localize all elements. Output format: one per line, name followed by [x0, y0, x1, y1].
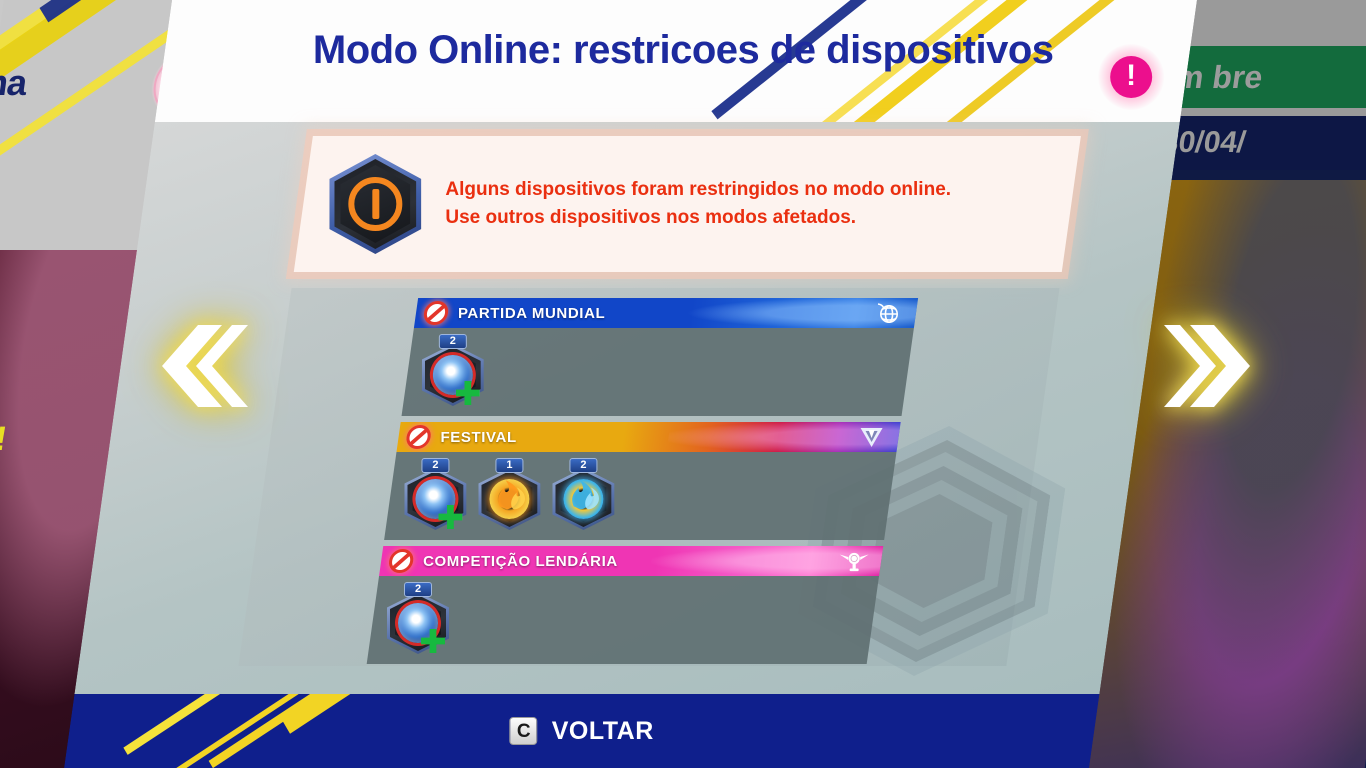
- device-count-badge: 2: [421, 458, 449, 473]
- device-hexagon-frame: [478, 468, 540, 530]
- mode-name: FESTIVAL: [441, 429, 517, 446]
- dialog-title-bar: Modo Online: restricoes de dispositivos …: [155, 0, 1197, 122]
- mode-name: COMPETIÇÃO LENDÁRIA: [423, 553, 618, 570]
- joycon-device-icon[interactable]: 2: [404, 460, 466, 530]
- dialog-footer: C VOLTAR: [64, 694, 1099, 768]
- device-hexagon-frame: [404, 468, 466, 530]
- pro-controller-orange-icon[interactable]: 1: [478, 460, 540, 530]
- mode-name: PARTIDA MUNDIAL: [458, 305, 605, 322]
- mode-header[interactable]: COMPETIÇÃO LENDÁRIA: [379, 546, 883, 576]
- mode-block: PARTIDA MUNDIAL2: [402, 298, 919, 416]
- device-count-badge: 1: [495, 458, 523, 473]
- warning-hexagon-icon: [329, 154, 421, 254]
- globe-icon: [872, 300, 906, 326]
- mode-header[interactable]: FESTIVAL: [396, 422, 900, 452]
- joycon-device-icon[interactable]: 2: [387, 584, 449, 654]
- restricted-device-list: 2: [402, 328, 914, 416]
- notice-box: Alguns dispositivos foram restringidos n…: [294, 136, 1081, 272]
- restricted-device-list: 2: [367, 576, 879, 664]
- device-count-badge: 2: [439, 334, 467, 349]
- restricted-device-list: 212: [384, 452, 896, 540]
- previous-arrow-button[interactable]: [150, 318, 250, 414]
- page-title: Modo Online: restricoes de dispositivos: [313, 28, 1073, 73]
- background-left-label: ma: [0, 62, 29, 104]
- background-left-label-2: 0O!: [0, 420, 8, 459]
- device-artwork: [489, 479, 529, 519]
- prohibited-icon: [422, 301, 449, 325]
- device-hexagon-frame: [552, 468, 614, 530]
- trophy-wings-icon: [837, 548, 871, 574]
- exclamation-circle-icon: !: [1098, 44, 1164, 110]
- next-arrow-button[interactable]: [1162, 318, 1262, 414]
- notice-line-2: Use outros dispositivos nos modos afetad…: [445, 204, 951, 232]
- back-key-badge: C: [510, 717, 538, 745]
- festival-triangle-icon: [855, 424, 889, 450]
- back-button-label[interactable]: VOLTAR: [552, 717, 654, 746]
- mode-block: COMPETIÇÃO LENDÁRIA2: [367, 546, 884, 664]
- device-hexagon-frame: [422, 344, 484, 406]
- device-count-badge: 2: [404, 582, 432, 597]
- device-count-badge: 2: [569, 458, 597, 473]
- mode-list: PARTIDA MUNDIAL2FESTIVAL212COMPETIÇÃO LE…: [366, 298, 918, 670]
- joycon-device-icon[interactable]: 2: [422, 336, 484, 406]
- device-hexagon-frame: [387, 592, 449, 654]
- modes-panel: PARTIDA MUNDIAL2FESTIVAL212COMPETIÇÃO LE…: [238, 288, 1059, 666]
- prohibited-icon: [387, 549, 414, 573]
- pro-controller-blue-icon[interactable]: 2: [552, 460, 614, 530]
- notice-line-1: Alguns dispositivos foram restringidos n…: [445, 176, 951, 204]
- device-artwork: [563, 479, 603, 519]
- prohibited-icon: [405, 425, 432, 449]
- mode-header[interactable]: PARTIDA MUNDIAL: [414, 298, 918, 328]
- mode-block: FESTIVAL212: [384, 422, 901, 540]
